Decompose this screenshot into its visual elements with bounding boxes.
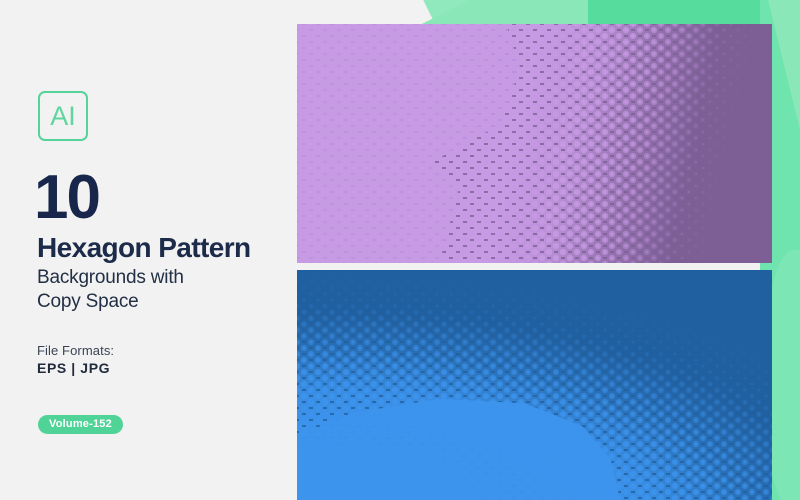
file-formats-value: EPS | JPG — [37, 360, 110, 376]
purple-hexagon-halftone — [297, 24, 772, 263]
volume-badge-label: Volume-152 — [49, 419, 112, 430]
file-formats-label: File Formats: — [37, 343, 114, 358]
preview-blue-panel[interactable] — [297, 270, 772, 500]
page-subtitle-line-2: Copy Space — [37, 290, 184, 314]
page-subtitle: Backgrounds with Copy Space — [37, 266, 184, 315]
volume-badge: Volume-152 — [38, 415, 123, 434]
page-title: Hexagon Pattern — [37, 234, 251, 262]
product-preview-card: AI 10 Hexagon Pattern Backgrounds with C… — [0, 0, 800, 500]
info-column: AI 10 Hexagon Pattern Backgrounds with C… — [0, 0, 297, 500]
blue-hex-fine-layer — [297, 270, 772, 500]
purple-hex-fine-layer — [297, 24, 772, 263]
green-right-light-wedge — [768, 0, 800, 138]
preview-purple-panel[interactable] — [297, 24, 772, 263]
ai-badge-label: AI — [50, 103, 76, 130]
page-subtitle-line-1: Backgrounds with — [37, 266, 184, 290]
item-count: 10 — [34, 167, 99, 229]
blue-hexagon-halftone — [297, 270, 772, 500]
ai-format-badge: AI — [38, 91, 88, 141]
